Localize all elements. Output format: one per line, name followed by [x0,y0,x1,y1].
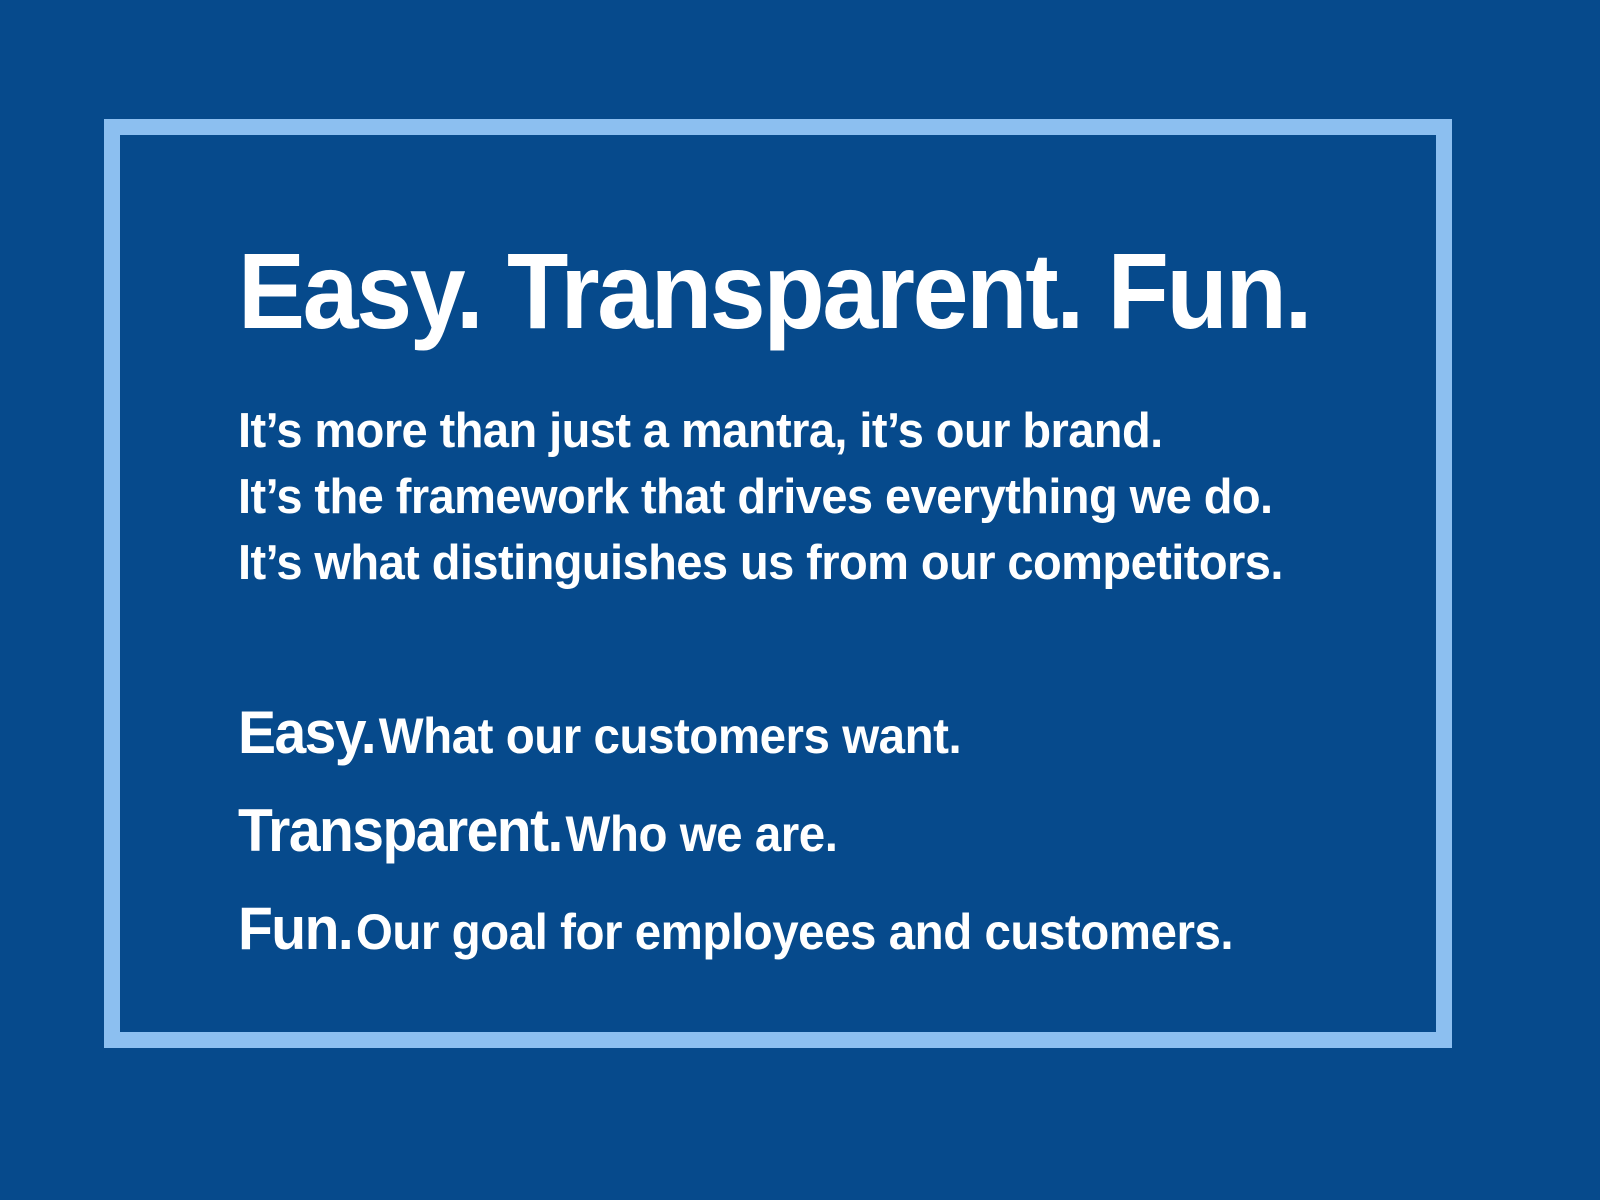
definition-description-transparent: Who we are. [566,806,838,862]
definition-term-easy: Easy. [238,699,375,766]
intro-line-2: It’s the framework that drives everythin… [238,464,1371,530]
slide-headline: Easy. Transparent. Fun. [238,236,1335,346]
intro-line-1: It’s more than just a mantra, it’s our b… [238,398,1371,464]
definition-item-easy: Easy. What our customers want. [238,692,1359,790]
slide-canvas: Easy. Transparent. Fun. It’s more than j… [0,0,1600,1200]
definition-description-fun: Our goal for employees and customers. [356,904,1233,960]
definition-term-fun: Fun. [238,895,352,962]
intro-line-3: It’s what distinguishes us from our comp… [238,530,1371,596]
definition-item-fun: Fun. Our goal for employees and customer… [238,888,1359,986]
definition-term-transparent: Transparent. [238,797,562,864]
slide-content: Easy. Transparent. Fun. It’s more than j… [238,236,1418,986]
definition-list: Easy. What our customers want. Transpare… [238,692,1418,986]
definition-description-easy: What our customers want. [379,708,961,764]
definition-item-transparent: Transparent. Who we are. [238,790,1359,888]
intro-paragraph: It’s more than just a mantra, it’s our b… [238,398,1371,596]
